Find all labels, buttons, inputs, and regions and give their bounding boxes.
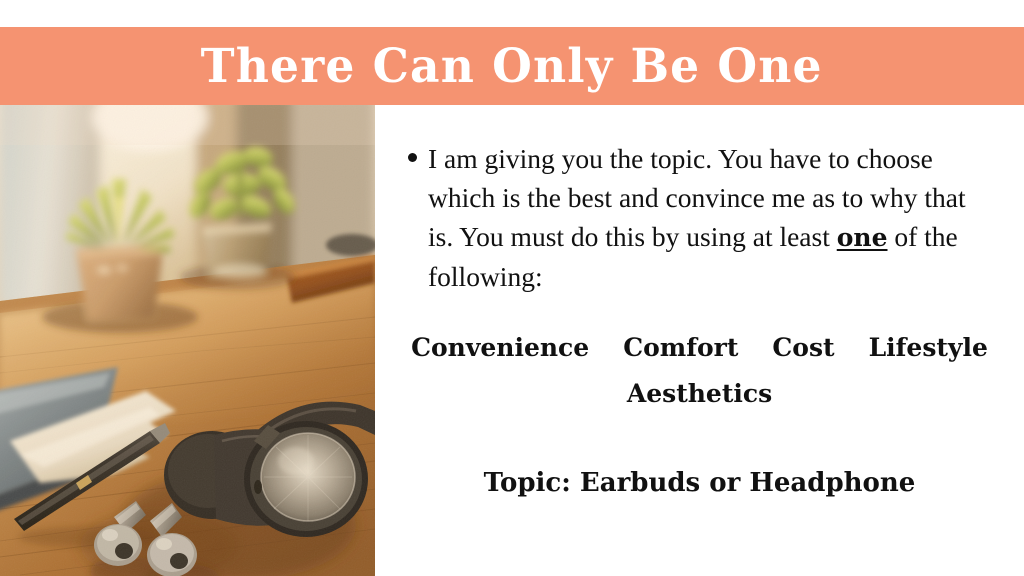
title-banner: There Can Only Be One xyxy=(0,27,1024,105)
criteria-row-primary: ConvenienceComfortCostLifestyle xyxy=(375,333,1024,362)
criteria-row-secondary: Aesthetics xyxy=(375,379,1024,408)
criteria-cost: Cost xyxy=(772,333,834,362)
instruction-emphasis-one: one xyxy=(837,223,888,252)
topic-label: Topic: Earbuds or Headphone xyxy=(484,468,916,498)
criteria-convenience: Convenience xyxy=(411,333,589,362)
desk-photo xyxy=(0,105,375,576)
desk-photo-illustration xyxy=(0,105,375,576)
bullet-dot-icon xyxy=(408,153,417,162)
content-column: I am giving you the topic. You have to c… xyxy=(375,105,1024,576)
slide: There Can Only Be One xyxy=(0,0,1024,576)
topic-line: Topic: Earbuds or Headphone xyxy=(375,468,1024,498)
instruction-text: I am giving you the topic. You have to c… xyxy=(428,139,980,296)
criteria-aesthetics: Aesthetics xyxy=(627,379,772,408)
instruction-bullet: I am giving you the topic. You have to c… xyxy=(408,139,990,296)
page-title: There Can Only Be One xyxy=(201,43,823,90)
criteria-lifestyle: Lifestyle xyxy=(869,333,988,362)
criteria-comfort: Comfort xyxy=(623,333,738,362)
